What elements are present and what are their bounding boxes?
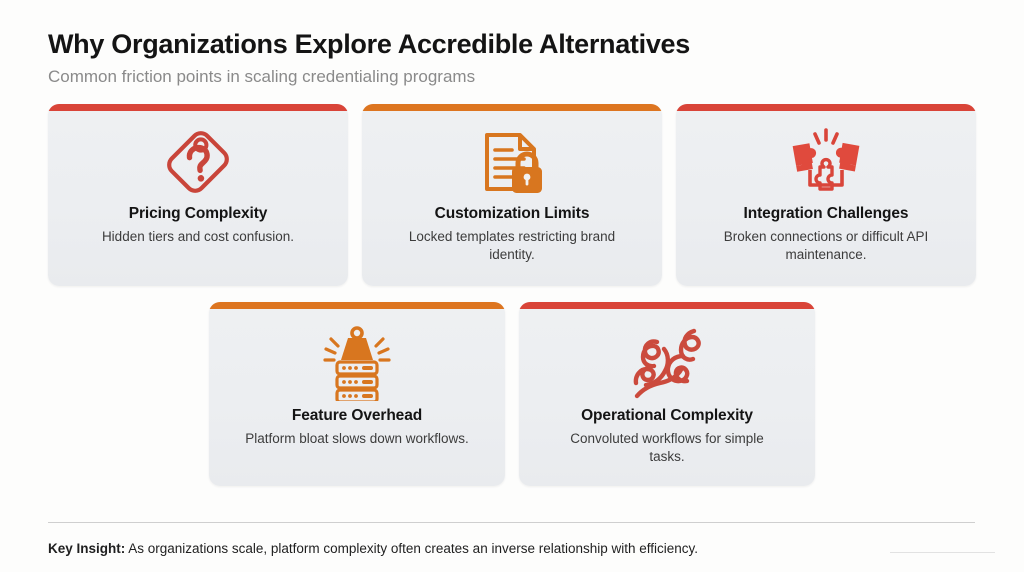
- broken-puzzle-icon: [786, 125, 866, 199]
- weight-on-server-icon: [315, 325, 399, 401]
- card-operational-complexity[interactable]: Operational Complexity Convoluted workfl…: [519, 302, 815, 486]
- card-title: Integration Challenges: [744, 205, 909, 223]
- card-description: Broken connections or difficult API main…: [714, 228, 939, 264]
- card-customization-limits[interactable]: Customization Limits Locked templates re…: [362, 104, 662, 286]
- slide-header: Why Organizations Explore Accredible Alt…: [48, 28, 976, 88]
- slide-canvas: Why Organizations Explore Accredible Alt…: [0, 0, 1024, 572]
- card-pricing-complexity[interactable]: Pricing Complexity Hidden tiers and cost…: [48, 104, 348, 286]
- slide-footer: Key Insight: As organizations scale, pla…: [48, 522, 976, 558]
- tangled-knot-icon: [624, 325, 710, 401]
- card-integration-challenges[interactable]: Integration Challenges Broken connection…: [676, 104, 976, 286]
- card-accent-bar: [209, 302, 505, 309]
- card-feature-overhead[interactable]: Feature Overhead Platform bloat slows do…: [209, 302, 505, 486]
- page-title: Why Organizations Explore Accredible Alt…: [48, 28, 976, 62]
- card-description: Locked templates restricting brand ident…: [400, 228, 625, 264]
- key-insight-text: Key Insight: As organizations scale, pla…: [48, 540, 976, 558]
- footer-secondary-rule: [890, 552, 995, 553]
- footer-divider: [48, 522, 975, 523]
- card-accent-bar: [362, 104, 662, 111]
- key-insight-label: Key Insight:: [48, 541, 125, 556]
- card-description: Hidden tiers and cost confusion.: [102, 228, 294, 246]
- page-subtitle: Common friction points in scaling creden…: [48, 66, 976, 88]
- card-title: Feature Overhead: [292, 407, 422, 425]
- card-title: Customization Limits: [435, 205, 590, 223]
- card-row-top: Pricing Complexity Hidden tiers and cost…: [48, 104, 976, 286]
- card-row-bottom: Feature Overhead Platform bloat slows do…: [48, 302, 976, 486]
- card-title: Operational Complexity: [581, 407, 753, 425]
- card-accent-bar: [48, 104, 348, 111]
- card-accent-bar: [676, 104, 976, 111]
- card-title: Pricing Complexity: [129, 205, 268, 223]
- document-lock-icon: [474, 125, 550, 199]
- card-description: Convoluted workflows for simple tasks.: [555, 430, 780, 466]
- card-accent-bar: [519, 302, 815, 309]
- price-tag-question-icon: [160, 125, 236, 199]
- card-description: Platform bloat slows down workflows.: [245, 430, 469, 448]
- key-insight-body: As organizations scale, platform complex…: [125, 541, 698, 556]
